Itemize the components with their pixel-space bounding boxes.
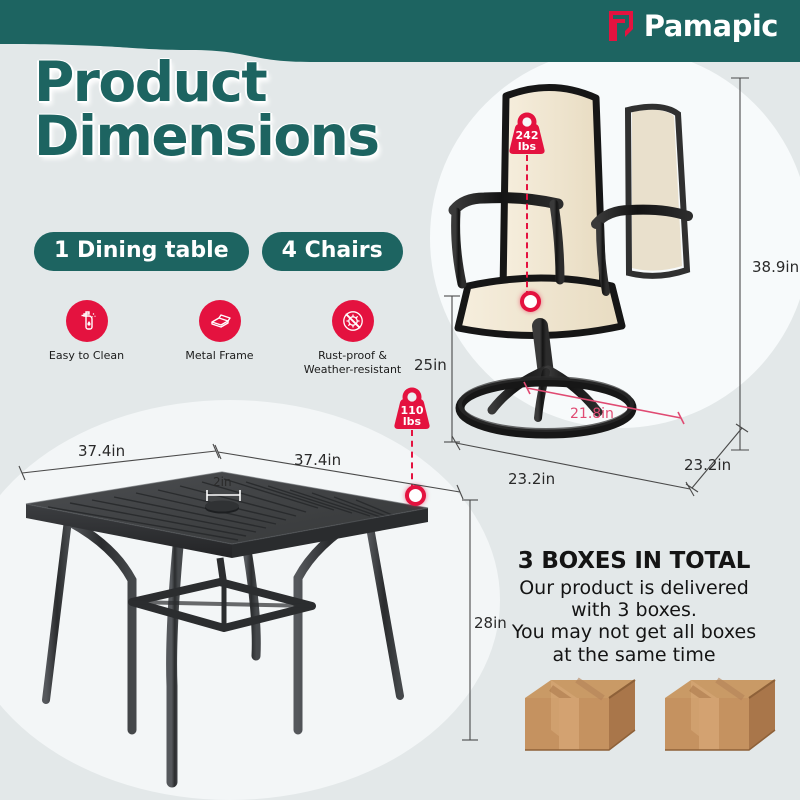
brand-name: Pamapic	[644, 12, 778, 41]
pill-dining-table: 1 Dining table	[34, 232, 249, 271]
chair-weight-leader-line	[526, 155, 528, 297]
cardboard-box-icon	[521, 672, 639, 758]
feature-label-metal-frame: Metal Frame	[185, 349, 253, 363]
contents-pills: 1 Dining table 4 Chairs	[34, 232, 403, 271]
chair-weight-badge: 242lbs	[505, 110, 549, 161]
chair-width-label: 23.2in	[508, 470, 555, 488]
chair-illustration	[436, 52, 736, 457]
boxes-line-3: You may not get all boxes	[468, 621, 800, 643]
boxes-line-4: at the same time	[468, 644, 800, 666]
brand-logo: Pamapic	[607, 9, 778, 43]
pill-chairs: 4 Chairs	[262, 232, 403, 271]
feature-easy-to-clean: Easy to Clean	[20, 300, 153, 377]
table-weight-leader-line	[411, 430, 413, 490]
spray-bottle-icon	[66, 300, 108, 342]
feature-label-easy-to-clean: Easy to Clean	[49, 349, 124, 363]
table-illustration	[8, 460, 448, 795]
table-weight-text: 110lbs	[390, 405, 434, 427]
boxes-title: 3 BOXES IN TOTAL	[468, 548, 800, 574]
boxes-line-1: Our product is delivered	[468, 577, 800, 599]
cardboard-box-icon	[661, 672, 779, 758]
chair-weight-anchor-dot	[520, 291, 541, 312]
page-title: Product Dimensions	[34, 56, 464, 164]
boxes-line-2: with 3 boxes.	[468, 599, 800, 621]
shipping-info: 3 BOXES IN TOTAL Our product is delivere…	[468, 548, 800, 666]
feature-list: Easy to Clean Metal Frame	[20, 300, 420, 377]
boxes-description: Our product is delivered with 3 boxes. Y…	[468, 577, 800, 666]
no-rust-icon	[332, 300, 374, 342]
infographic-root: Pamapic Product Dimensions 1 Dining tabl…	[0, 0, 800, 800]
table-weight-anchor-dot	[405, 485, 426, 506]
pamapic-r-mark-icon	[607, 9, 637, 43]
feature-label-rust-proof: Rust-proof & Weather-resistant	[304, 349, 402, 377]
title-line-2: Dimensions	[34, 110, 464, 164]
table-weight-badge: 110lbs	[390, 385, 434, 436]
metal-sheets-icon	[199, 300, 241, 342]
feature-rust-proof: Rust-proof & Weather-resistant	[286, 300, 419, 377]
chair-depth-label: 23.2in	[684, 456, 731, 474]
chair-weight-text: 242lbs	[505, 130, 549, 152]
feature-metal-frame: Metal Frame	[153, 300, 286, 377]
box-illustrations	[500, 672, 800, 758]
